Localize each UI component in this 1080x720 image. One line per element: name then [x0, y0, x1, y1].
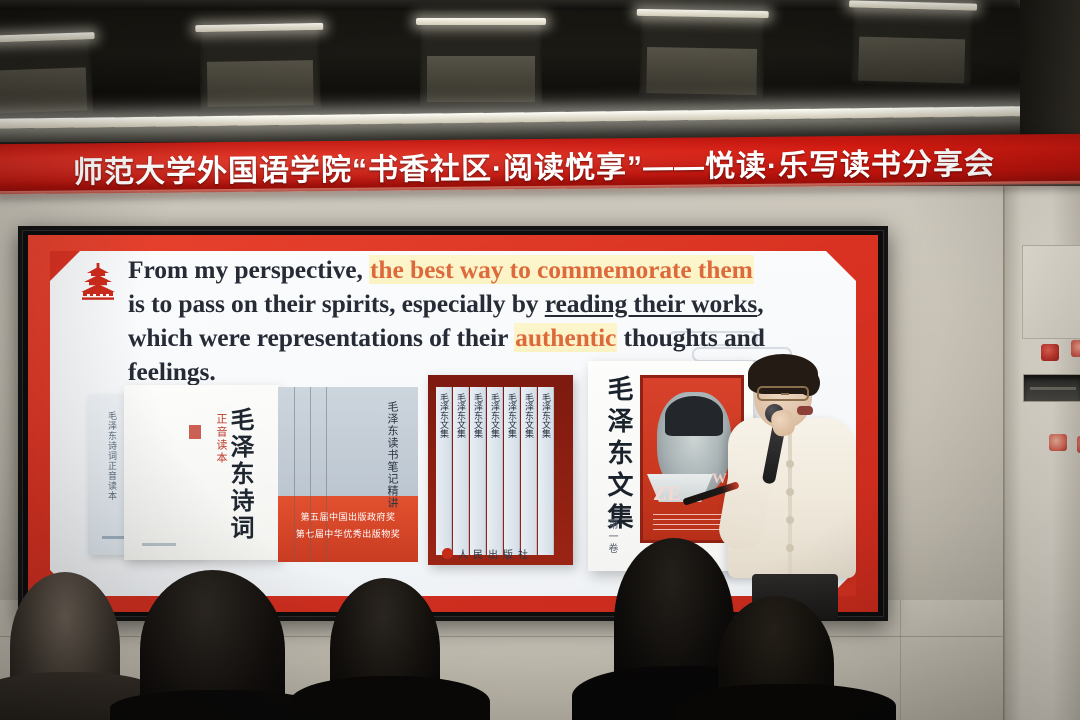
book-set-award-line-1: 第五届中国出版政府奖 — [278, 510, 418, 523]
wall-sticker-1 — [1041, 344, 1059, 361]
wenji-spine-1: 毛泽东文集 — [436, 387, 452, 555]
wenji-spine-title-1: 毛泽东文集 — [438, 393, 451, 438]
book-set-divider-1 — [294, 387, 295, 562]
audience-member-3-body — [290, 676, 490, 720]
book-maozedong-shici: 毛泽东诗词 正音读本 — [124, 385, 279, 560]
speaker-button-3 — [786, 516, 794, 524]
wenji-spine-7: 毛泽东文集 — [538, 387, 554, 555]
ac-unit-vent — [1023, 374, 1080, 402]
ceiling-light-5 — [851, 4, 973, 87]
book-set-divider-3 — [326, 387, 327, 562]
speaker-mouth — [797, 406, 813, 415]
book-shici-seal — [189, 425, 201, 439]
wall-sticker-3 — [1049, 434, 1067, 451]
ceiling — [0, 0, 1080, 140]
wenji-spine-3: 毛泽东文集 — [470, 387, 486, 555]
wall-column-right — [1005, 186, 1080, 720]
quote-segment-2-highlight: the best way to commemorate them — [369, 255, 754, 284]
ceiling-light-4 — [639, 13, 764, 99]
cover-title: 毛泽东文集 — [600, 375, 637, 535]
audience-member-5-body — [676, 684, 896, 720]
quote-segment-4-underline: reading their works — [545, 289, 758, 318]
wenji-spine-title-6: 毛泽东文集 — [523, 393, 536, 438]
quote-segment-6-highlight: authentic — [514, 323, 617, 352]
ceiling-light-3 — [420, 22, 542, 106]
speaker-presenter — [728, 358, 856, 620]
book-set-award: 第五届中国出版政府奖 第七届中华优秀出版物奖 毛泽东读书笔记精讲 — [278, 387, 418, 562]
cover-caption-lines — [653, 514, 723, 530]
wenji-spine-6: 毛泽东文集 — [521, 387, 537, 555]
publisher-logo-icon — [442, 548, 453, 559]
wenji-spine-title-7: 毛泽东文集 — [540, 393, 553, 438]
book-set-award-title: 毛泽东读书笔记精讲 — [384, 401, 400, 509]
pagoda-icon — [78, 261, 118, 301]
quote-segment-1: From my perspective, — [128, 255, 369, 284]
ceiling-light-1 — [0, 36, 93, 118]
book-shici-subtitle: 正音读本 — [213, 413, 229, 465]
wenji-spine-title-4: 毛泽东文集 — [489, 393, 502, 438]
wenji-spine-4: 毛泽东文集 — [487, 387, 503, 555]
speaker-cardigan-placket — [788, 434, 792, 578]
wenji-spine-2: 毛泽东文集 — [453, 387, 469, 555]
wenji-spine-title-5: 毛泽东文集 — [506, 393, 519, 438]
ac-vent-louver — [1030, 387, 1076, 390]
book-set-divider-2 — [310, 387, 311, 562]
speaker-button-1 — [786, 460, 794, 468]
wenji-publisher: 人民出版社 — [458, 546, 533, 561]
quote-segment-3: is to pass on their spirits, especially … — [128, 289, 545, 318]
book-set-award-line-2: 第七届中华优秀出版物奖 — [278, 527, 418, 540]
wenji-spine-5: 毛泽东文集 — [504, 387, 520, 555]
wall-sticker-2 — [1071, 340, 1080, 357]
cover-pinyin-text: ZE — [653, 483, 682, 506]
speaker-button-4 — [786, 544, 794, 552]
ceiling-light-2 — [199, 27, 320, 111]
wenji-spine-title-2: 毛泽东文集 — [455, 393, 468, 438]
book-shici-bottom-mark — [142, 543, 176, 546]
cover-volume: 第一卷 — [604, 519, 619, 555]
ac-unit-panel — [1022, 245, 1080, 339]
book-reader-spine-title: 毛泽东诗词正音读本 — [106, 411, 119, 501]
presentation-room-photo: 师范大学外国语学院“书香社区·阅读悦享”——悦读·乐写读书分享会 — [0, 0, 1080, 720]
wenji-spine-title-3: 毛泽东文集 — [472, 393, 485, 438]
speaker-glasses-icon — [757, 386, 809, 401]
speaker-button-2 — [786, 488, 794, 496]
wall-seam-vertical-3 — [900, 600, 901, 720]
portrait-hair — [665, 396, 723, 436]
book-set-maozedong-wenji: 毛泽东文集 毛泽东文集 毛泽东文集 毛泽东文集 毛泽东文集 毛泽东文集 — [428, 375, 573, 565]
ceiling-right-trim — [1020, 0, 1080, 140]
